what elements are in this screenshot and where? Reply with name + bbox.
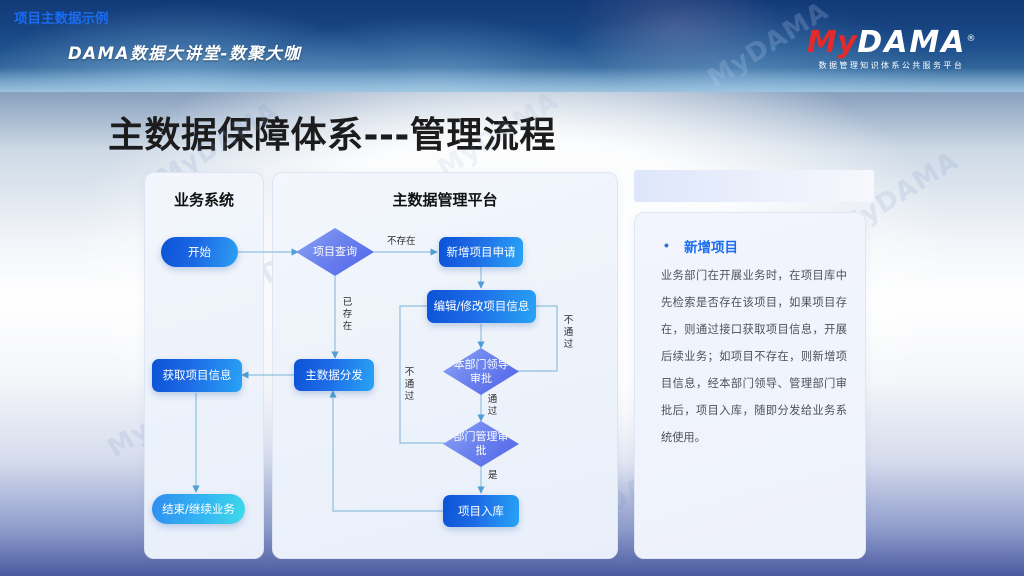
flow-node-dept-manage-approval-label: 部门管理审批	[453, 430, 509, 458]
logo-my-text: My	[807, 25, 857, 60]
panel-mdm-platform-title: 主数据管理平台	[273, 189, 617, 210]
flow-node-get-project-info[interactable]: 获取项目信息	[152, 359, 242, 392]
example-bullet-title: 新增项目	[684, 236, 738, 256]
example-panel-header-label: 项目主数据示例	[14, 7, 109, 27]
flow-node-project-store[interactable]: 项目入库	[443, 495, 519, 527]
edge-label-yes: 是	[488, 470, 498, 482]
registered-trademark-icon: ®	[967, 34, 977, 44]
edge-label-already-exist: 已存在	[342, 297, 353, 333]
edge-label-not-exist: 不存在	[387, 236, 416, 248]
banner-title: DAMA数据大讲堂-数聚大咖	[68, 40, 301, 64]
flow-node-end-continue[interactable]: 结束/继续业务	[152, 494, 245, 524]
flow-node-edit-modify-project-info[interactable]: 编辑/修改项目信息	[427, 290, 536, 323]
example-body-text: 业务部门在开展业务时，在项目库中先检索是否存在该项目，如果项目存在，则通过接口获…	[661, 262, 847, 451]
top-banner: DAMA数据大讲堂-数聚大咖 MyDAMA® 数据管理知识体系公共服务平台	[0, 0, 1024, 92]
slide-root: DAMA数据大讲堂-数聚大咖 MyDAMA® 数据管理知识体系公共服务平台 主数…	[0, 0, 1024, 576]
logo-dama-text: DAMA	[857, 25, 966, 60]
logo-wordmark: MyDAMA®	[807, 28, 976, 58]
panel-business-system-title: 业务系统	[145, 189, 263, 210]
flow-node-project-query-label: 项目查询	[306, 245, 364, 259]
flow-node-start[interactable]: 开始	[161, 237, 238, 267]
flow-node-dept-leader-approval-label: 本部门领导审批	[453, 358, 509, 386]
flow-node-mdm-distribute[interactable]: 主数据分发	[294, 359, 374, 391]
edge-label-pass: 通过	[487, 394, 498, 418]
edge-label-reject-2: 不通过	[404, 367, 415, 403]
mydama-logo: MyDAMA® 数据管理知识体系公共服务平台	[807, 28, 976, 70]
logo-tagline: 数据管理知识体系公共服务平台	[807, 62, 976, 70]
page-title: 主数据保障体系---管理流程	[108, 106, 556, 158]
example-panel-header	[634, 170, 874, 202]
bullet-marker-icon: •	[664, 237, 669, 253]
edge-label-reject-1: 不通过	[563, 315, 574, 351]
flow-node-new-project-apply[interactable]: 新增项目申请	[439, 237, 523, 267]
